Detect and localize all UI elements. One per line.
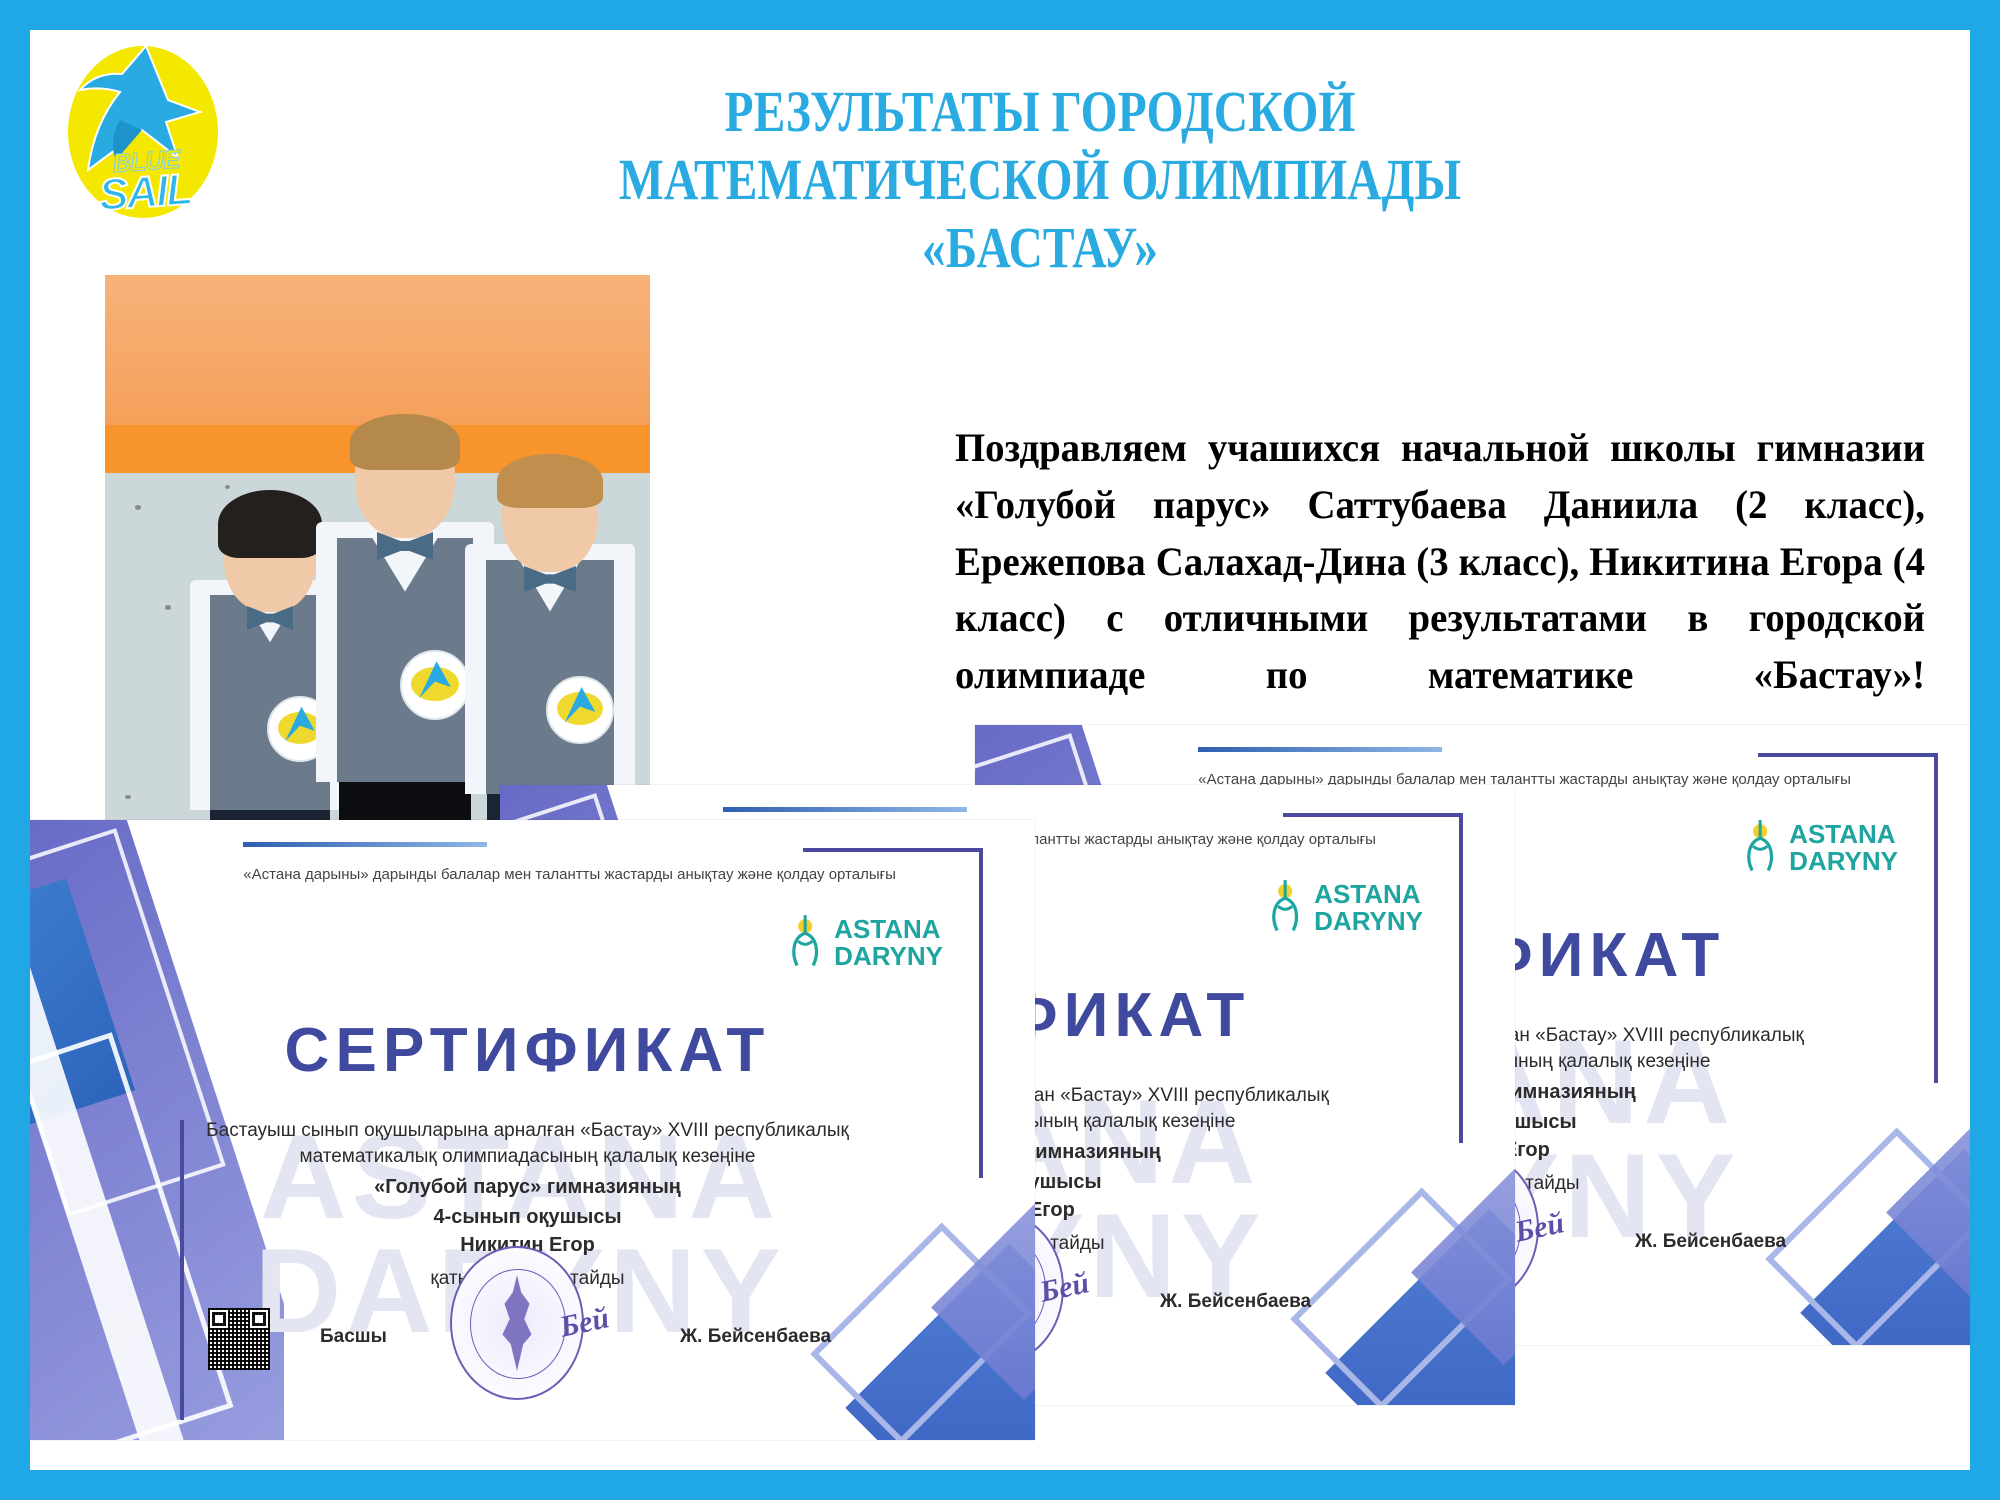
cert-brand-line1: ASTANA — [1789, 821, 1898, 848]
cert-body-line3: «Голубой парус» гимназияның — [30, 1176, 1035, 1199]
cert-org-line: «Астана дарыны» дарынды балалар мен тала… — [243, 866, 896, 883]
cert-brand: ASTANA DARYNY — [834, 916, 943, 971]
cert-brand-line1: ASTANA — [1314, 881, 1423, 908]
student-badge — [546, 676, 614, 744]
cert-topbar — [723, 807, 967, 812]
astana-daryny-icon — [1740, 818, 1780, 873]
certificate-card-left[interactable]: «Астана дарыны» дарынды балалар мен тала… — [30, 820, 1035, 1440]
student-hair — [497, 454, 603, 508]
astana-daryny-icon — [785, 913, 825, 968]
cert-brand-line1: ASTANA — [834, 916, 943, 943]
wall-speck — [165, 605, 171, 610]
cert-topbar — [243, 842, 487, 847]
page-title: РЕЗУЛЬТАТЫ ГОРОДСКОЙ МАТЕМАТИЧЕСКОЙ ОЛИМ… — [556, 78, 1524, 282]
logo-text-sail: SAIL — [68, 163, 221, 223]
cert-sign-label: Басшы — [320, 1326, 387, 1348]
wall-speck — [225, 485, 230, 489]
cert-body-line4: 4-сынып оқушысы — [30, 1206, 1035, 1229]
congratulation-paragraph: Поздравляем учашихся начальной школы гим… — [955, 420, 1925, 704]
cert-brand-line2: DARYNY — [834, 943, 943, 970]
cert-title: СЕРТИФИКАТ — [30, 1015, 1035, 1086]
cert-qr-code[interactable] — [208, 1308, 270, 1370]
cert-sign-name: Ж. Бейсенбаева — [1160, 1291, 1311, 1313]
title-line-2: МАТЕМАТИЧЕСКОЙ ОЛИМПИАДЫ — [556, 146, 1524, 214]
cert-body-line1: Бастауыш сынып оқушыларына арналған «Бас… — [30, 1120, 1035, 1142]
cert-sign-name: Ж. Бейсенбаева — [1635, 1231, 1786, 1253]
cert-brand-line2: DARYNY — [1789, 848, 1898, 875]
cert-sign-name: Ж. Бейсенбаева — [680, 1326, 831, 1348]
title-line-1: РЕЗУЛЬТАТЫ ГОРОДСКОЙ — [556, 78, 1524, 146]
slide-canvas: BLUE SAIL РЕЗУЛЬТАТЫ ГОРОДСКОЙ МАТЕМАТИЧ… — [30, 30, 1970, 1470]
cert-brand-line2: DARYNY — [1314, 908, 1423, 935]
astana-daryny-icon — [1265, 878, 1305, 933]
wall-speck — [125, 795, 131, 799]
cert-topbar — [1198, 747, 1442, 752]
cert-rule-top — [1283, 813, 1463, 817]
cert-rule-top — [803, 848, 983, 852]
student-hair — [350, 414, 460, 470]
cert-brand: ASTANA DARYNY — [1789, 821, 1898, 876]
title-line-3: «БАСТАУ» — [556, 214, 1524, 282]
school-logo: BLUE SAIL — [50, 38, 240, 228]
wall-speck — [135, 505, 141, 510]
cert-body-line2: математикалық олимпиадасының қалалық кез… — [30, 1146, 1035, 1168]
cert-brand: ASTANA DARYNY — [1314, 881, 1423, 936]
cert-rule-top — [1758, 753, 1938, 757]
